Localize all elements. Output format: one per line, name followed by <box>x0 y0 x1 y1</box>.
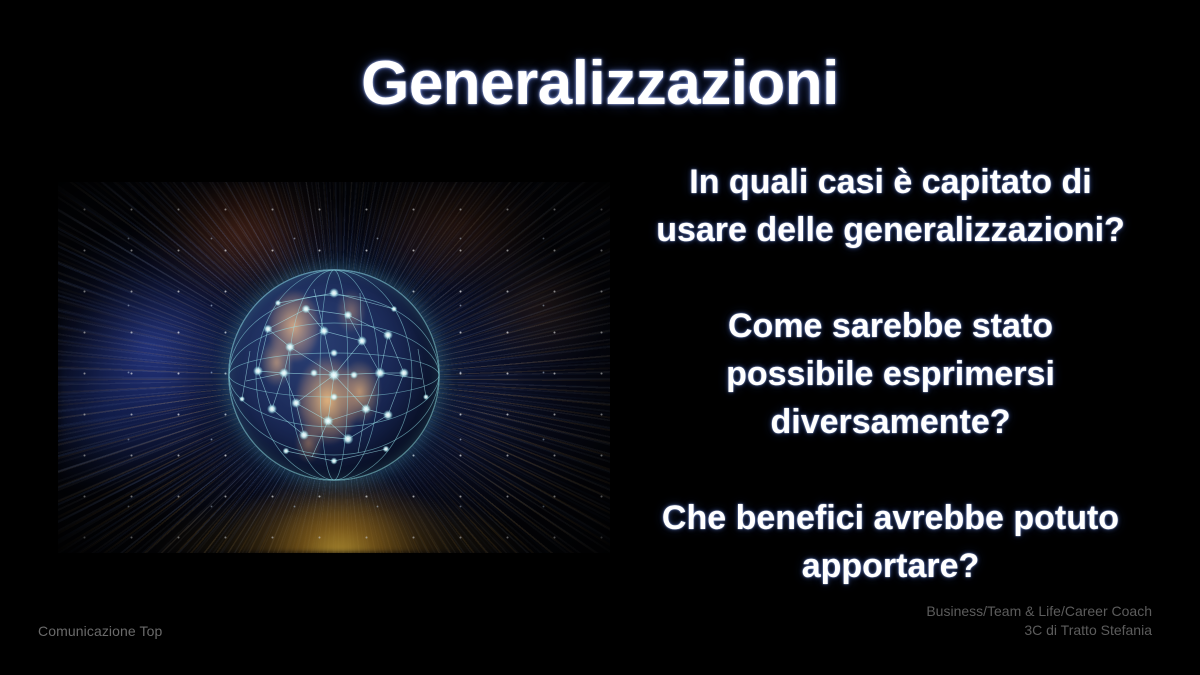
slide-title: Generalizzazioni <box>0 48 1200 119</box>
presentation-slide: Generalizzazioni <box>0 0 1200 675</box>
question-2: Come sarebbe stato possibile esprimersi … <box>628 302 1153 446</box>
network-globe-image[interactable] <box>58 182 610 553</box>
question-2-line-3: diversamente? <box>628 398 1153 446</box>
footer-right-line-2: 3C di Tratto Stefania <box>926 621 1152 640</box>
footer-left-label: Comunicazione Top <box>38 623 162 639</box>
question-spacer-2 <box>628 446 1153 494</box>
question-1-line-1: In quali casi è capitato di <box>628 158 1153 206</box>
question-2-line-2: possibile esprimersi <box>628 350 1153 398</box>
image-vignette-layer <box>58 182 610 553</box>
question-1: In quali casi è capitato di usare delle … <box>628 158 1153 254</box>
footer-right-line-1: Business/Team & Life/Career Coach <box>926 602 1152 621</box>
question-1-line-2: usare delle generalizzazioni? <box>628 206 1153 254</box>
question-3: Che benefici avrebbe potuto apportare? <box>628 494 1153 590</box>
question-text-block: In quali casi è capitato di usare delle … <box>628 158 1153 590</box>
footer-right-credit: Business/Team & Life/Career Coach 3C di … <box>926 602 1152 640</box>
question-3-line-2: apportare? <box>628 542 1153 590</box>
question-3-line-1: Che benefici avrebbe potuto <box>628 494 1153 542</box>
question-spacer-1 <box>628 254 1153 302</box>
question-2-line-1: Come sarebbe stato <box>628 302 1153 350</box>
